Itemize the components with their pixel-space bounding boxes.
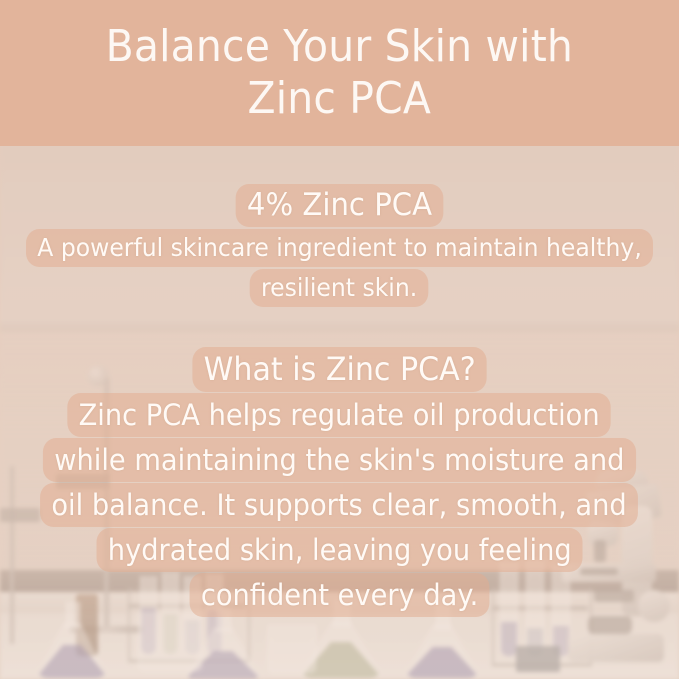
- ingredient-heading: 4% Zinc PCA: [236, 184, 444, 227]
- banner-title: Balance Your Skin with Zinc PCA: [78, 21, 601, 125]
- infographic-canvas: Balance Your Skin with Zinc PCA 4% Zinc …: [0, 0, 679, 679]
- banner-title-line-2: Zinc PCA: [248, 73, 432, 124]
- ingredient-section: 4% Zinc PCA A powerful skincare ingredie…: [0, 184, 679, 307]
- banner-title-line-1: Balance Your Skin with: [106, 21, 573, 72]
- content-area: 4% Zinc PCA A powerful skincare ingredie…: [0, 146, 679, 679]
- about-body-line-3: oil balance. It supports clear, smooth, …: [41, 483, 639, 527]
- about-body-line-4: hydrated skin, leaving you feeling: [96, 528, 582, 572]
- about-body-line-2: while maintaining the skin's moisture an…: [43, 438, 636, 482]
- about-body-line-5: confident every day.: [189, 573, 489, 617]
- header-banner: Balance Your Skin with Zinc PCA: [0, 0, 679, 146]
- ingredient-description-line-2: resilient skin.: [250, 269, 429, 307]
- ingredient-description-line-1: A powerful skincare ingredient to mainta…: [26, 229, 653, 267]
- about-body-line-1: Zinc PCA helps regulate oil production: [68, 393, 612, 437]
- about-heading: What is Zinc PCA?: [192, 347, 487, 392]
- about-section: What is Zinc PCA? Zinc PCA helps regulat…: [0, 347, 679, 617]
